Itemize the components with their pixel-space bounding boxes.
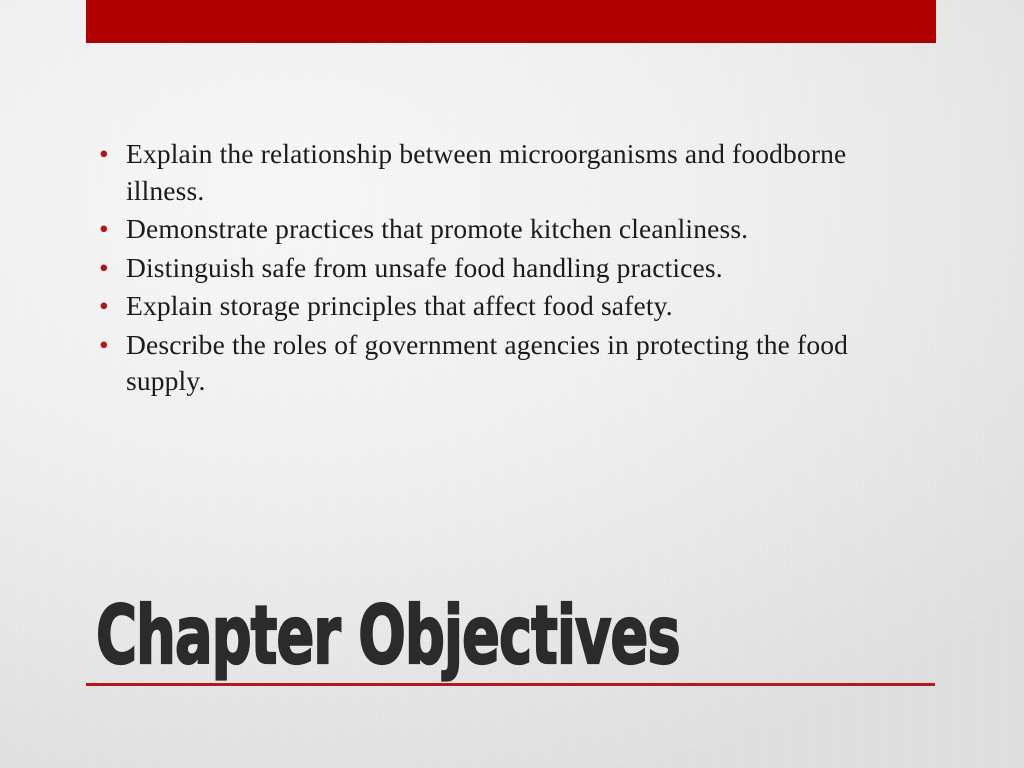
presentation-slide: • Explain the relationship between micro… (0, 0, 1024, 768)
bullet-point-icon: • (99, 250, 115, 287)
bullet-point-icon: • (99, 211, 115, 248)
list-item: • Describe the roles of government agenc… (92, 327, 922, 400)
bullet-point-icon: • (99, 136, 115, 173)
bullet-point-icon: • (99, 327, 115, 364)
list-item-text: Describe the roles of government agencie… (126, 327, 922, 400)
list-item: • Distinguish safe from unsafe food hand… (92, 250, 922, 287)
list-item-text: Demonstrate practices that promote kitch… (126, 211, 922, 248)
list-item: • Demonstrate practices that promote kit… (92, 211, 922, 248)
list-item: • Explain storage principles that affect… (92, 288, 922, 325)
objectives-bullet-list: • Explain the relationship between micro… (92, 136, 922, 402)
top-accent-bar (86, 0, 936, 43)
page-title: Chapter Objectives (96, 596, 680, 676)
title-underline-rule (86, 683, 935, 686)
list-item-text: Explain storage principles that affect f… (126, 288, 922, 325)
list-item-text: Distinguish safe from unsafe food handli… (126, 250, 922, 287)
list-item-text: Explain the relationship between microor… (126, 136, 922, 209)
list-item: • Explain the relationship between micro… (92, 136, 922, 209)
bullet-point-icon: • (99, 288, 115, 325)
